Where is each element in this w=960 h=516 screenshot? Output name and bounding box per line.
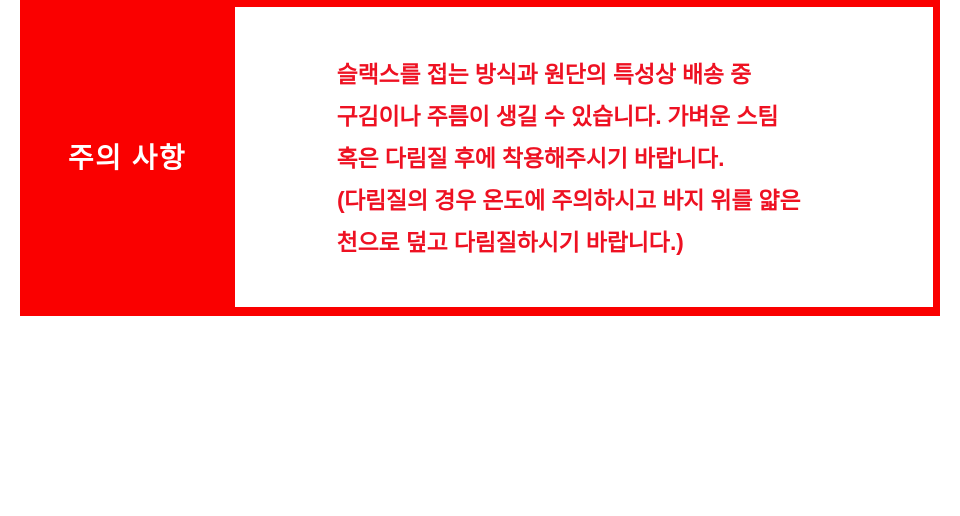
notice-text-line: (다림질의 경우 온도에 주의하시고 바지 위를 얇은	[337, 179, 933, 221]
notice-text-line: 구김이나 주름이 생길 수 있습니다. 가벼운 스팀	[337, 95, 933, 137]
notice-label-title: 주의 사항	[68, 144, 186, 172]
notice-card: 주의 사항 슬랙스를 접는 방식과 원단의 특성상 배송 중 구김이나 주름이 …	[20, 0, 940, 316]
notice-text-line: 혹은 다림질 후에 착용해주시기 바랍니다.	[337, 137, 933, 179]
notice-text-line: 천으로 덮고 다림질하시기 바랍니다.)	[337, 221, 933, 263]
notice-label-panel: 주의 사항	[20, 0, 235, 316]
notice-body-panel: 슬랙스를 접는 방식과 원단의 특성상 배송 중 구김이나 주름이 생길 수 있…	[235, 7, 933, 307]
notice-text-line: 슬랙스를 접는 방식과 원단의 특성상 배송 중	[337, 53, 933, 95]
